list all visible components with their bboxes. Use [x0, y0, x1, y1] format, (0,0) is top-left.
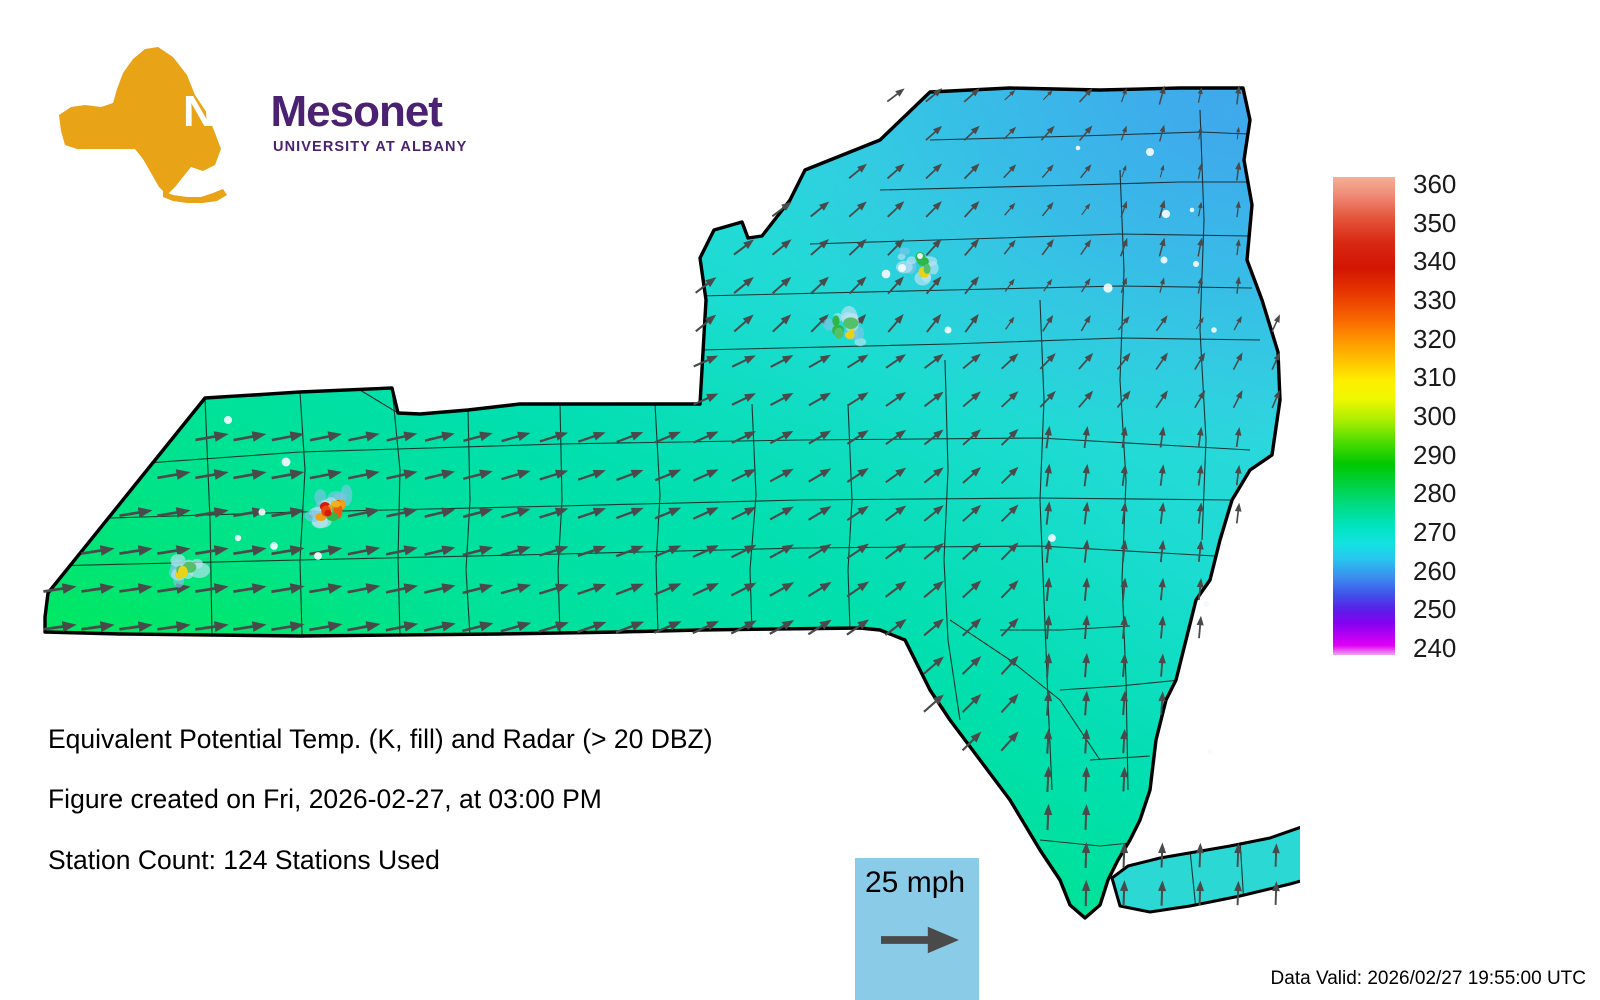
- radar-echo-cell: [907, 256, 917, 264]
- colorbar-tick-250: 250: [1413, 596, 1456, 622]
- wind-arrow: [885, 86, 907, 105]
- radar-echo-cell: [224, 416, 232, 424]
- logo-university-text: UNIVERSITY AT ALBANY: [273, 139, 403, 155]
- colorbar-tick-260: 260: [1413, 558, 1456, 584]
- wind-scale-arrow: [881, 920, 959, 960]
- radar-echo-cell: [882, 270, 891, 279]
- colorbar-tick-270: 270: [1413, 519, 1456, 545]
- radar-echo-cell: [945, 327, 952, 334]
- radar-echo-cell: [1161, 257, 1168, 264]
- radar-echo-cell: [1146, 148, 1154, 156]
- wind-arrow: [1233, 502, 1242, 524]
- radar-echo-cell: [178, 566, 188, 578]
- radar-echo-cell: [1193, 261, 1199, 267]
- radar-echo-cell: [1162, 210, 1170, 218]
- figure-title: Equivalent Potential Temp. (K, fill) and…: [48, 724, 713, 755]
- radar-echo-cell: [1048, 534, 1056, 542]
- radar-echo-cell: [324, 510, 331, 516]
- colorbar-tick-290: 290: [1413, 442, 1456, 468]
- colorbar-tick-350: 350: [1413, 210, 1456, 236]
- colorbar-tick-340: 340: [1413, 248, 1456, 274]
- radar-echo-cell: [899, 247, 909, 255]
- colorbar-tick-310: 310: [1413, 364, 1456, 390]
- wind-scale-legend: 25 mph: [855, 858, 979, 1000]
- theta-e-colorbar: [1333, 177, 1395, 655]
- colorbar-tick-320: 320: [1413, 326, 1456, 352]
- radar-echo-cell: [1103, 283, 1112, 292]
- logo-mesonet-text: Mesonet: [270, 87, 441, 137]
- data-valid-timestamp: Data Valid: 2026/02/27 19:55:00 UTC: [1271, 968, 1586, 990]
- radar-echo-cell: [282, 458, 291, 467]
- radar-echo-cell: [1076, 146, 1081, 151]
- colorbar-tick-labels: 360350340330320310300290280270260250240: [1413, 170, 1563, 662]
- colorbar-panel: 360350340330320310300290280270260250240: [1325, 170, 1575, 660]
- radar-echo-cell: [1203, 601, 1209, 607]
- logo-nys-text: NYS: [183, 87, 270, 137]
- figure-created-timestamp: Figure created on Fri, 2026-02-27, at 03…: [48, 784, 602, 815]
- colorbar-tick-280: 280: [1413, 480, 1456, 506]
- radar-echo-cell: [331, 501, 341, 508]
- wind-arrow: [1195, 615, 1204, 638]
- radar-echo-cell: [235, 535, 241, 541]
- station-count-label: Station Count: 124 Stations Used: [48, 845, 440, 876]
- radar-echo-cell: [917, 253, 923, 259]
- radar-echo-cell: [843, 317, 858, 329]
- radar-echo-cell: [834, 328, 843, 339]
- colorbar-tick-240: 240: [1413, 635, 1456, 661]
- radar-echo-cell: [270, 542, 278, 550]
- colorbar-tick-330: 330: [1413, 287, 1456, 313]
- wind-scale-label: 25 mph: [865, 866, 965, 900]
- radar-echo-cell: [845, 331, 855, 339]
- radar-echo-cell: [1211, 327, 1217, 333]
- colorbar-tick-300: 300: [1413, 403, 1456, 429]
- colorbar-tick-360: 360: [1413, 171, 1456, 197]
- radar-echo-cell: [314, 552, 322, 560]
- radar-echo-cell: [924, 264, 931, 274]
- radar-echo-cell: [258, 508, 265, 515]
- nys-mesonet-logo: NYS Mesonet UNIVERSITY AT ALBANY: [55, 45, 400, 205]
- radar-echo-cell: [1208, 750, 1213, 755]
- radar-echo-cell: [1190, 208, 1194, 212]
- radar-echo-cell: [898, 264, 906, 272]
